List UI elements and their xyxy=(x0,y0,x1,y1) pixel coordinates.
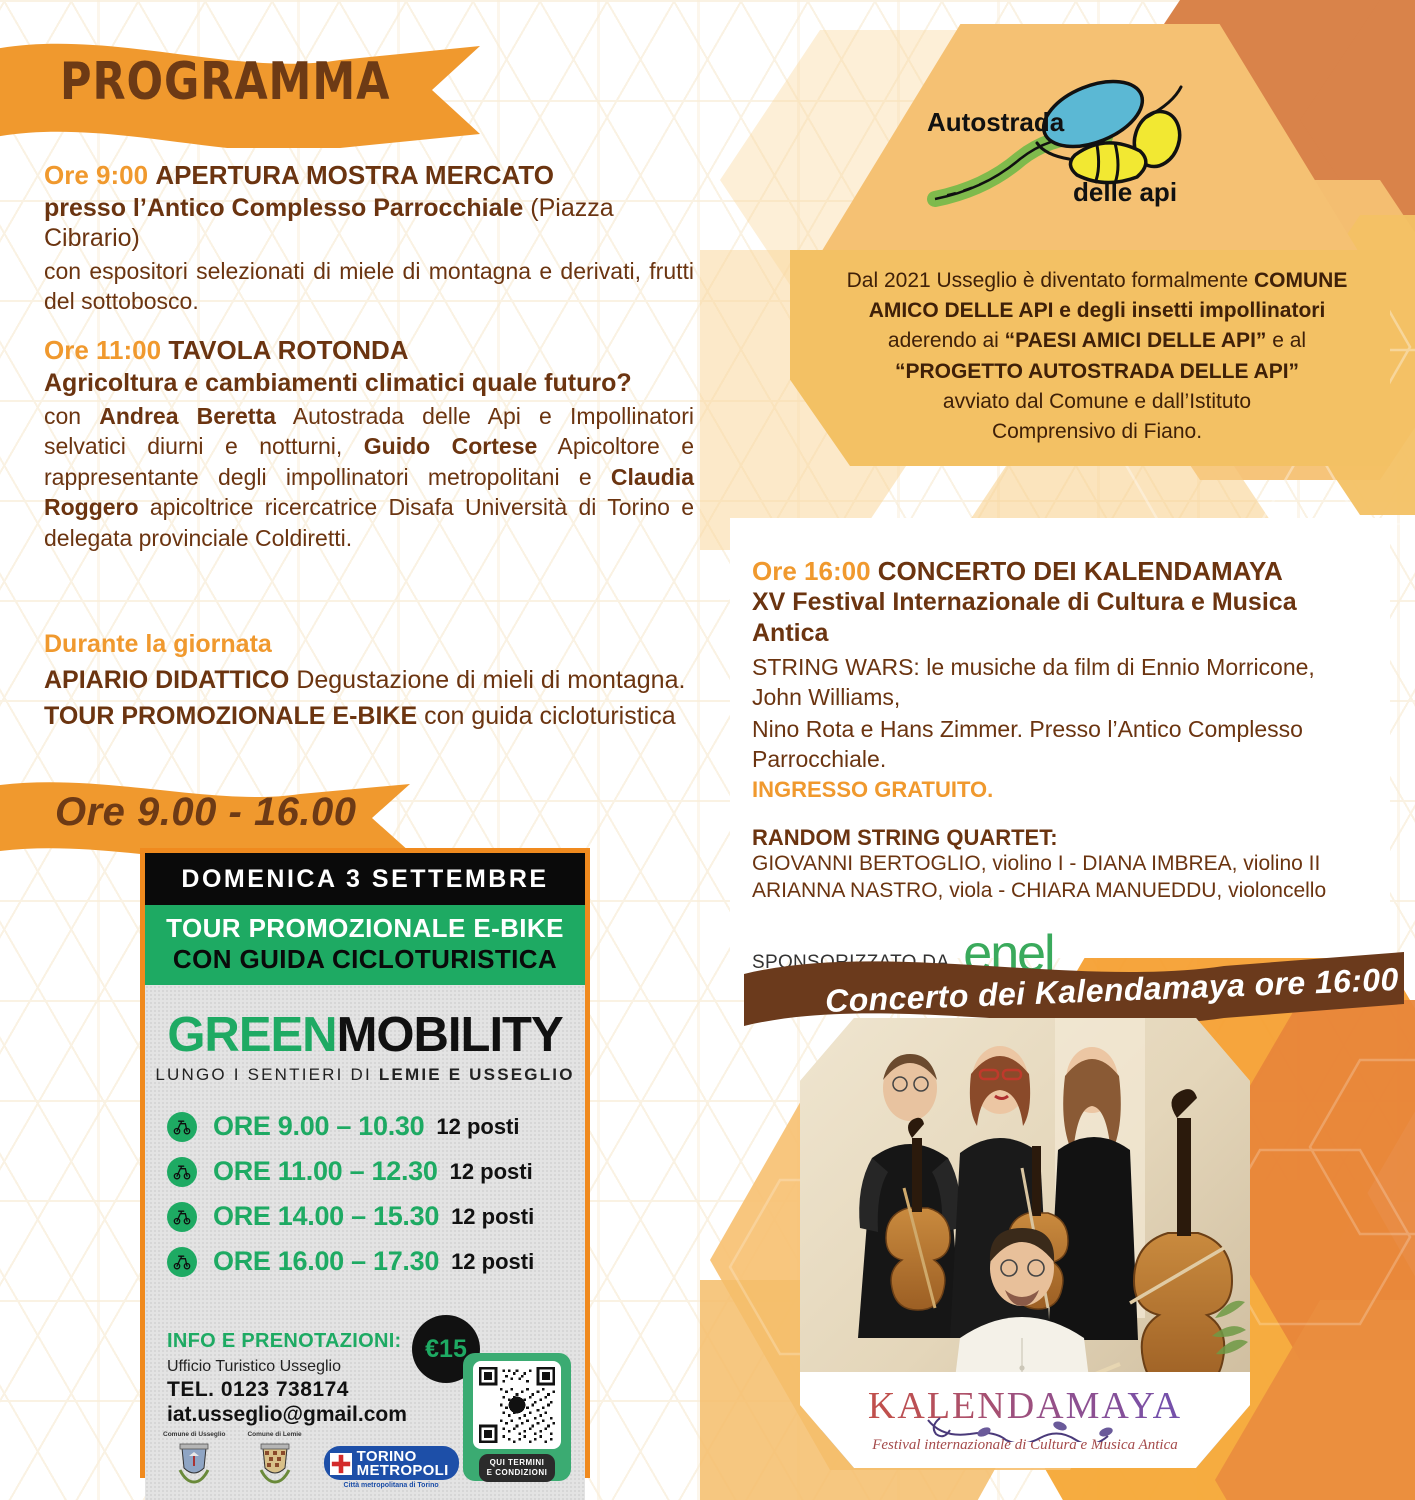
contact-phone[interactable]: TEL. 0123 738174 xyxy=(167,1378,407,1402)
program-item-2-run-6: apicoltrice ricercatrice Disafa Universi… xyxy=(44,494,694,551)
bicycle-icon xyxy=(167,1157,197,1187)
poster-root: PROGRAMMA Ore 9:00 APERTURA MOSTRA MERCA… xyxy=(0,0,1415,1500)
program-item-2: Ore 11:00 TAVOLA ROTONDA Agricoltura e c… xyxy=(44,335,694,554)
flyer-brand-black: MOBILITY xyxy=(337,1008,563,1062)
comune-amico-line-5-run-0: avviato dal Comune e dall’Istituto xyxy=(943,390,1251,413)
bee-logo-word-1: Autostrada xyxy=(927,107,1064,138)
qr-terms-label[interactable]: QUI TERMINI E CONDIZIONI xyxy=(479,1454,556,1482)
quartet-photo: KALENDAMAYA Festival internazionale di C… xyxy=(800,1018,1250,1468)
page-title: PROGRAMMA xyxy=(60,52,390,112)
coat-of-arms-icon xyxy=(174,1440,214,1486)
flyer-guide-label: CON GUIDA CICLOTURISTICA xyxy=(145,944,585,975)
concert-festival: XV Festival Internazionale di Cultura e … xyxy=(752,587,1366,650)
flyer-tour-label: TOUR PROMOZIONALE E-BIKE xyxy=(145,913,585,944)
flyer-body: GREENMOBILITY LUNGO I SENTIERI DI LEMIE … xyxy=(145,985,585,1500)
comune-amico-line-4-run-0: “PROGETTO AUTOSTRADA DELLE API” xyxy=(895,360,1299,383)
during-day-item-2: TOUR PROMOZIONALE E-BIKE con guida ciclo… xyxy=(44,701,694,731)
program-item-1-time: Ore 9:00 xyxy=(44,160,148,190)
program-item-2-run-0: con xyxy=(44,403,99,429)
program-item-2-headline: Ore 11:00 TAVOLA ROTONDA xyxy=(44,335,694,366)
comune-amico-line-6-run-0: Comprensivo di Fiano. xyxy=(992,420,1202,443)
quartet-members-line-1: GIOVANNI BERTOGLIO, violino I - DIANA IM… xyxy=(752,851,1366,878)
flyer-slot-list: ORE 9.00 – 10.30 12 posti ORE 11.00 – 12… xyxy=(145,1111,585,1277)
program-item-2-title: TAVOLA ROTONDA xyxy=(168,335,408,365)
concert-desc-line-1: STRING WARS: le musiche da film di Ennio… xyxy=(752,653,1366,713)
concert-time: Ore 16:00 xyxy=(752,556,871,586)
bicycle-icon xyxy=(167,1247,197,1277)
flyer-tagline: LUNGO I SENTIERI DI LEMIE E USSEGLIO xyxy=(145,1065,585,1085)
list-item[interactable]: ORE 16.00 – 17.30 12 posti xyxy=(167,1246,585,1277)
bee-logo: Autostrada delle api xyxy=(925,59,1255,219)
bicycle-icon xyxy=(167,1112,197,1142)
qr-panel[interactable]: QUI TERMINI E CONDIZIONI xyxy=(463,1353,571,1481)
program-item-2-run-3: Guido Cortese xyxy=(364,433,538,459)
slot-time: ORE 16.00 – 17.30 xyxy=(213,1246,439,1277)
crest-usseglio-caption: Comune di Usseglio xyxy=(163,1431,225,1438)
comune-amico-line-3: aderendo ai “PAESI AMICI DELLE API” e al xyxy=(838,326,1356,356)
torino-logo-badge: TORINO METROPOLI xyxy=(324,1446,459,1481)
torino-caption: Città metropolitana di Torino xyxy=(324,1482,459,1489)
during-day-item-1-rest: Degustazione di mieli di montagna. xyxy=(289,666,685,694)
list-item[interactable]: ORE 14.00 – 15.30 12 posti xyxy=(167,1201,585,1232)
comune-amico-line-3-run-2: e al xyxy=(1266,329,1306,352)
comune-amico-line-1: Dal 2021 Usseglio è diventato formalment… xyxy=(838,266,1356,296)
program-item-1-body: con espositori selezionati di miele di m… xyxy=(44,256,694,317)
slot-time: ORE 9.00 – 10.30 xyxy=(213,1111,424,1142)
program-item-1-venue: presso l’Antico Complesso Parrocchiale xyxy=(44,194,523,222)
slot-time: ORE 14.00 – 15.30 xyxy=(213,1201,439,1232)
program-item-1-subtitle: presso l’Antico Complesso Parrocchiale (… xyxy=(44,193,694,253)
comune-amico-panel: Dal 2021 Usseglio è diventato formalment… xyxy=(790,250,1390,466)
slot-seats: 12 posti xyxy=(451,1249,534,1275)
logo-row: Comune di Usseglio Comune di Lemie xyxy=(163,1431,459,1491)
during-day-item-2-rest: con guida cicloturistica xyxy=(417,702,675,730)
coat-of-arms-icon xyxy=(255,1440,295,1486)
flyer-date-bar: DOMENICA 3 SETTEMBRE xyxy=(145,853,585,905)
flyer-brand-green: GREEN xyxy=(167,1008,336,1062)
hours-ribbon-label: Ore 9.00 - 16.00 xyxy=(55,790,357,835)
comune-amico-line-3-run-1: “PAESI AMICI DELLE API” xyxy=(1005,329,1267,352)
comune-amico-line-1-run-1: COMUNE xyxy=(1254,269,1347,292)
qr-code-icon xyxy=(479,1367,555,1443)
program-item-1: Ore 9:00 APERTURA MOSTRA MERCATO presso … xyxy=(44,160,694,317)
slot-seats: 12 posti xyxy=(450,1159,533,1185)
contact-email[interactable]: iat.usseglio@gmail.com xyxy=(167,1403,407,1427)
comune-amico-line-5: avviato dal Comune e dall’Istituto xyxy=(838,387,1356,417)
comune-amico-line-2-run-0: AMICO DELLE API xyxy=(869,299,1054,322)
comune-amico-line-3-run-0: aderendo ai xyxy=(888,329,1005,352)
program-item-1-title: APERTURA MOSTRA MERCATO xyxy=(155,160,554,190)
crest-lemie: Comune di Lemie xyxy=(247,1431,301,1491)
concert-card-content: Ore 16:00 CONCERTO DEI KALENDAMAYA XV Fe… xyxy=(730,518,1390,996)
concert-headline: Ore 16:00 CONCERTO DEI KALENDAMAYA xyxy=(752,556,1366,587)
contact-office: Ufficio Turistico Usseglio xyxy=(167,1358,407,1376)
flyer-tagline-plain: LUNGO I SENTIERI DI xyxy=(155,1065,378,1084)
flyer-contact-block: INFO E PRENOTAZIONI: Ufficio Turistico U… xyxy=(167,1330,407,1427)
concert-free-entry: INGRESSO GRATUITO. xyxy=(752,777,1366,803)
concert-card: Ore 16:00 CONCERTO DEI KALENDAMAYA XV Fe… xyxy=(730,518,1390,958)
comune-amico-line-2: AMICO DELLE API e degli insetti impollin… xyxy=(838,296,1356,326)
torino-metropoli-logo: TORINO METROPOLI Città metropolitana di … xyxy=(324,1446,459,1490)
flourish-ornament-icon xyxy=(910,1412,1140,1442)
crest-lemie-caption: Comune di Lemie xyxy=(247,1431,301,1438)
quartet-block: RANDOM STRING QUARTET: GIOVANNI BERTOGLI… xyxy=(752,825,1366,905)
torino-line-2: METROPOLI xyxy=(357,1464,449,1478)
slot-time: ORE 11.00 – 12.30 xyxy=(213,1156,438,1187)
contact-heading: INFO E PRENOTAZIONI: xyxy=(167,1330,407,1353)
comune-amico-line-2-run-1: e degli insetti impollinatori xyxy=(1053,299,1325,322)
program-column: PROGRAMMA Ore 9:00 APERTURA MOSTRA MERCA… xyxy=(0,0,710,1500)
crest-usseglio: Comune di Usseglio xyxy=(163,1431,225,1491)
program-item-2-time: Ore 11:00 xyxy=(44,335,161,365)
torino-logo-text: TORINO METROPOLI xyxy=(357,1450,449,1479)
program-item-2-run-1: Andrea Beretta xyxy=(99,403,276,429)
comune-amico-line-4: “PROGETTO AUTOSTRADA DELLE API” xyxy=(838,357,1356,387)
qr-code-card xyxy=(473,1361,561,1449)
during-day-item-2-bold: TOUR PROMOZIONALE E-BIKE xyxy=(44,702,417,730)
kalendamaya-logo: KALENDAMAYA Festival internazionale di C… xyxy=(800,1372,1250,1468)
qr-terms-line2: E CONDIZIONI xyxy=(487,1468,548,1478)
comune-amico-text: Dal 2021 Usseglio è diventato formalment… xyxy=(838,266,1356,447)
quartet-heading: RANDOM STRING QUARTET: xyxy=(752,825,1366,851)
green-mobility-flyer[interactable]: DOMENICA 3 SETTEMBRE TOUR PROMOZIONALE E… xyxy=(140,848,590,1478)
slot-seats: 12 posti xyxy=(436,1114,519,1140)
savoy-cross-icon xyxy=(330,1453,352,1475)
bicycle-icon xyxy=(167,1202,197,1232)
flyer-green-bar: TOUR PROMOZIONALE E-BIKE CON GUIDA CICLO… xyxy=(145,905,585,985)
comune-amico-line-6: Comprensivo di Fiano. xyxy=(838,417,1356,447)
program-item-2-body: con Andrea Beretta Autostrada delle Api … xyxy=(44,401,694,554)
concert-title: CONCERTO DEI KALENDAMAYA xyxy=(878,556,1283,586)
during-day-item-1: APIARIO DIDATTICO Degustazione di mieli … xyxy=(44,665,694,695)
list-item[interactable]: ORE 9.00 – 10.30 12 posti xyxy=(167,1111,585,1142)
qr-terms-line1: QUI TERMINI xyxy=(487,1458,548,1468)
quartet-members-line-2: ARIANNA NASTRO, viola - CHIARA MANUEDDU,… xyxy=(752,878,1366,905)
bee-logo-word-2: delle api xyxy=(1073,177,1177,208)
slot-seats: 12 posti xyxy=(451,1204,534,1230)
flyer-brand-title: GREENMOBILITY xyxy=(145,1007,585,1063)
concert-desc-line-2: Nino Rota e Hans Zimmer. Presso l’Antico… xyxy=(752,715,1366,775)
during-day-item-1-bold: APIARIO DIDATTICO xyxy=(44,666,289,694)
during-day-heading: Durante la giornata xyxy=(44,630,694,659)
during-day-block: Durante la giornata APIARIO DIDATTICO De… xyxy=(44,630,694,731)
comune-amico-line-1-run-0: Dal 2021 Usseglio è diventato formalment… xyxy=(847,269,1254,292)
program-item-2-subtitle: Agricoltura e cambiamenti climatici qual… xyxy=(44,368,694,398)
flyer-tagline-bold: LEMIE E USSEGLIO xyxy=(379,1065,575,1084)
list-item[interactable]: ORE 11.00 – 12.30 12 posti xyxy=(167,1156,585,1187)
program-item-1-headline: Ore 9:00 APERTURA MOSTRA MERCATO xyxy=(44,160,694,191)
